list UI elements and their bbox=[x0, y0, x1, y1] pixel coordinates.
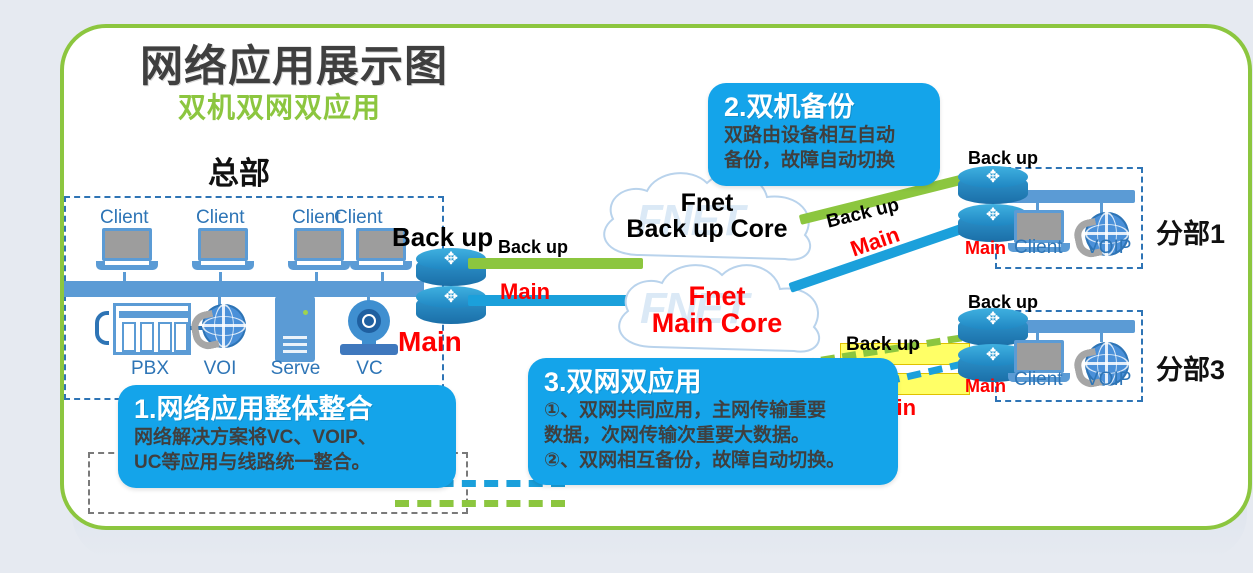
hq-client-laptop-2 bbox=[192, 228, 254, 276]
link-hq-backup-label: Back up bbox=[498, 237, 568, 258]
hq-device-label-pbx: PBX bbox=[110, 358, 190, 380]
callout-1-body: 网络解决方案将VC、VOIP、 UC等应用与线路统一整合。 bbox=[134, 426, 440, 475]
cloud-backup-label-1: Fnet bbox=[597, 191, 817, 217]
callout-3[interactable]: 3.双网双应用 ①、双网共同应用，主网传输重要 数据，次网传输次重要大数据。 ②… bbox=[528, 358, 898, 485]
branch3-title: 分部3 bbox=[1156, 348, 1225, 387]
bottom-link-backup bbox=[395, 500, 565, 507]
router-arrows-icon: ✥ bbox=[432, 250, 470, 268]
laptop-screen-icon bbox=[294, 228, 344, 261]
pbx-rack bbox=[113, 303, 191, 355]
branch3-router-main-label: Main bbox=[965, 376, 1006, 397]
callout-2-body-line-1: 双路由设备相互自动 bbox=[724, 124, 924, 149]
router-arrows-icon: ✥ bbox=[974, 206, 1012, 224]
hq-client-label-1: Client bbox=[100, 208, 152, 228]
callout-1-body-line-1: 网络解决方案将VC、VOIP、 bbox=[134, 426, 440, 451]
branch1-client-label: Client bbox=[1014, 238, 1066, 258]
laptop-base-inner bbox=[359, 261, 403, 265]
callout-3-title: 3.双网双应用 bbox=[544, 367, 882, 397]
callout-2[interactable]: 2.双机备份 双路由设备相互自动 备份，故障自动切换 bbox=[708, 83, 940, 186]
laptop-base-inner bbox=[297, 261, 341, 265]
globe-icon bbox=[192, 304, 246, 358]
laptop-screen-icon bbox=[102, 228, 152, 261]
branch1-voip-label: VOIP bbox=[1086, 238, 1126, 258]
cloud-backup-label-2: Back up Core bbox=[597, 217, 817, 243]
hq-device-label-vc: VC bbox=[342, 358, 397, 380]
callout-1-title: 1.网络应用整体整合 bbox=[134, 394, 440, 424]
router-arrows-icon: ✥ bbox=[432, 288, 470, 306]
router-arrows-icon: ✥ bbox=[974, 168, 1012, 186]
callout-3-body-line-2: 数据，次网传输次重要大数据。 bbox=[544, 424, 882, 449]
laptop-base-inner bbox=[201, 261, 245, 265]
laptop-base-inner bbox=[105, 261, 149, 265]
hq-client-laptop-1 bbox=[96, 228, 158, 276]
hq-router-main[interactable]: ✥ bbox=[416, 286, 486, 330]
server-led bbox=[303, 310, 308, 315]
hq-client-label-2: Client bbox=[196, 208, 248, 228]
branch3-voip-stem bbox=[1100, 330, 1103, 342]
hq-client-label-4: Client bbox=[334, 208, 386, 228]
page-subtitle: 双机双网双应用 bbox=[178, 86, 381, 126]
camera-icon bbox=[340, 300, 398, 356]
camera-lens-inner bbox=[364, 316, 374, 326]
branch1-title: 分部1 bbox=[1156, 212, 1225, 251]
cloud-main-label-2: Main Core bbox=[607, 310, 827, 338]
router-arrows-icon: ✥ bbox=[974, 346, 1012, 364]
callout-1-body-line-2: UC等应用与线路统一整合。 bbox=[134, 451, 440, 476]
callout-3-body: ①、双网共同应用，主网传输重要 数据，次网传输次重要大数据。 ②、双网相互备份，… bbox=[544, 399, 882, 473]
link-hq-main-label: Main bbox=[500, 279, 550, 305]
camera-base bbox=[340, 344, 398, 355]
server-icon bbox=[275, 296, 315, 362]
hq-title: 总部 bbox=[208, 148, 270, 193]
router-arrows-icon: ✥ bbox=[974, 310, 1012, 328]
hq-client-laptop-3 bbox=[288, 228, 350, 276]
callout-3-body-line-1: ①、双网共同应用，主网传输重要 bbox=[544, 399, 882, 424]
page-title: 网络应用展示图 bbox=[140, 32, 448, 94]
callout-3-body-line-3: ②、双网相互备份，故障自动切换。 bbox=[544, 449, 882, 474]
callout-2-body-line-2: 备份，故障自动切换 bbox=[724, 149, 924, 174]
hq-device-label-server: Serve bbox=[258, 358, 333, 380]
pbx-icon bbox=[95, 303, 191, 355]
laptop-screen-icon bbox=[198, 228, 248, 261]
hq-device-label-voip: VOI bbox=[185, 358, 255, 380]
callout-1[interactable]: 1.网络应用整体整合 网络解决方案将VC、VOIP、 UC等应用与线路统一整合。 bbox=[118, 385, 456, 488]
branch3-voip-label: VOIP bbox=[1086, 370, 1126, 390]
diagram-canvas: 网络应用展示图 双机双网双应用 总部 Client Client Client … bbox=[0, 0, 1253, 573]
handset-icon bbox=[95, 311, 109, 345]
branch1-router-main-label: Main bbox=[965, 238, 1006, 259]
link-branch3-backup-label: Back up bbox=[846, 334, 920, 356]
hq-router-main-label: Main bbox=[398, 326, 462, 358]
callout-2-body: 双路由设备相互自动 备份，故障自动切换 bbox=[724, 124, 924, 173]
callout-2-title: 2.双机备份 bbox=[724, 92, 924, 122]
branch3-client-label: Client bbox=[1014, 370, 1066, 390]
